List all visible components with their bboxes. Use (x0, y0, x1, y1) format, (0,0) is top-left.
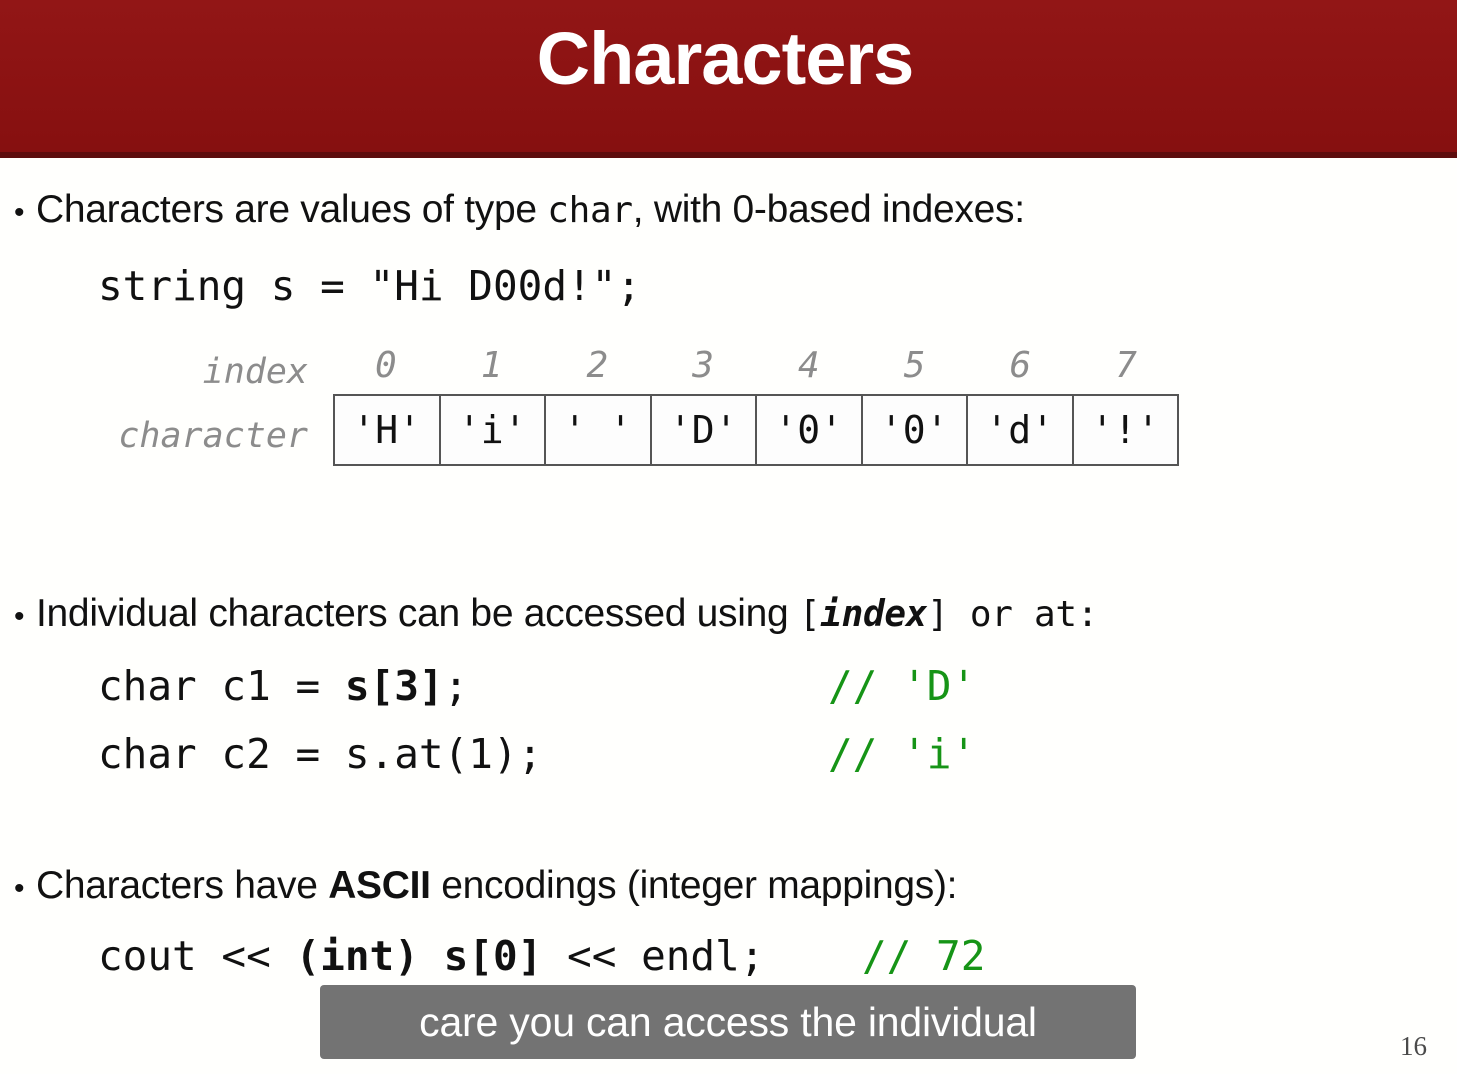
video-caption-bar: care you can access the individual (320, 985, 1136, 1059)
code-line-char-c2: char c2 = s.at(1); (98, 730, 542, 778)
index-cell: 7 (1073, 348, 1179, 394)
index-cell: 4 (756, 348, 862, 394)
slide-page-number: 16 (1400, 1031, 1427, 1062)
code-text-c1-b: ; (444, 662, 469, 710)
code-comment-c1: // 'D' (828, 662, 976, 710)
code-text-cout-bold: (int) s[0] (295, 932, 542, 980)
bullet-text-post: , with 0-based indexes: (633, 188, 1025, 231)
index-cell: 3 (650, 348, 756, 394)
bullet-text-pre: Characters have (36, 864, 328, 907)
code-line-string-declaration: string s = "Hi D00d!"; (98, 262, 641, 310)
bullet-item-type-char: • Characters are values of type char, wi… (14, 188, 1025, 232)
character-cell: 'D' (652, 396, 758, 464)
slide-content: • Characters are values of type char, wi… (0, 158, 1457, 1074)
bullet-dot-icon: • (14, 198, 36, 228)
inline-code-bracket-close: ] (927, 594, 970, 635)
character-cell: 'd' (968, 396, 1074, 464)
table-row-label-index: index (168, 352, 308, 392)
inline-code-at: or at: (970, 594, 1098, 635)
bullet-dot-icon: • (14, 874, 36, 904)
bullet-text-pre: Individual characters can be accessed us… (36, 592, 799, 635)
inline-code-index-placeholder: index (820, 594, 927, 635)
code-text-cout-a: cout << (98, 932, 295, 980)
index-cell: 1 (439, 348, 545, 394)
caption-text: care you can access the individual (419, 999, 1037, 1046)
bullet-text-line: Characters have ASCII encodings (integer… (36, 864, 957, 908)
character-index-table: 0 1 2 3 4 5 6 7 'H' 'i' ' ' 'D' '0' '0' … (333, 348, 1179, 466)
index-cell: 0 (333, 348, 439, 394)
table-index-row: 0 1 2 3 4 5 6 7 (333, 348, 1179, 394)
bullet-text-line: Characters are values of type char, with… (36, 188, 1025, 232)
character-cell: '0' (863, 396, 969, 464)
index-cell: 2 (545, 348, 651, 394)
code-line-cout-ascii: cout << (int) s[0] << endl; (98, 932, 765, 980)
character-cell: 'i' (441, 396, 547, 464)
bullet-text-post: encodings (integer mappings): (431, 864, 957, 907)
index-cell: 6 (968, 348, 1074, 394)
code-comment-cout: // 72 (862, 932, 985, 980)
table-row-label-character: character (118, 416, 308, 456)
character-cell: 'H' (335, 396, 441, 464)
character-cell: ' ' (546, 396, 652, 464)
bullet-text-ascii: ASCII (328, 864, 431, 907)
character-cell: '!' (1074, 396, 1178, 464)
bullet-item-access-index: • Individual characters can be accessed … (14, 592, 1098, 636)
index-cell: 5 (862, 348, 968, 394)
bullet-dot-icon: • (14, 602, 36, 632)
code-text-c1-bold: s[3] (345, 662, 444, 710)
inline-code-char: char (547, 190, 633, 231)
code-text-c1-a: char c1 = (98, 662, 345, 710)
bullet-item-ascii-encodings: • Characters have ASCII encodings (integ… (14, 864, 957, 908)
code-text-cout-b: << endl; (542, 932, 764, 980)
page-title: Characters (0, 13, 1450, 106)
character-cell: '0' (757, 396, 863, 464)
table-character-row: 'H' 'i' ' ' 'D' '0' '0' 'd' '!' (333, 394, 1179, 466)
inline-code-bracket-open: [ (799, 594, 820, 635)
code-line-char-c1: char c1 = s[3]; (98, 662, 468, 710)
code-comment-c2: // 'i' (828, 730, 976, 778)
bullet-text-line: Individual characters can be accessed us… (36, 592, 1098, 636)
bullet-text-pre: Characters are values of type (36, 188, 547, 231)
